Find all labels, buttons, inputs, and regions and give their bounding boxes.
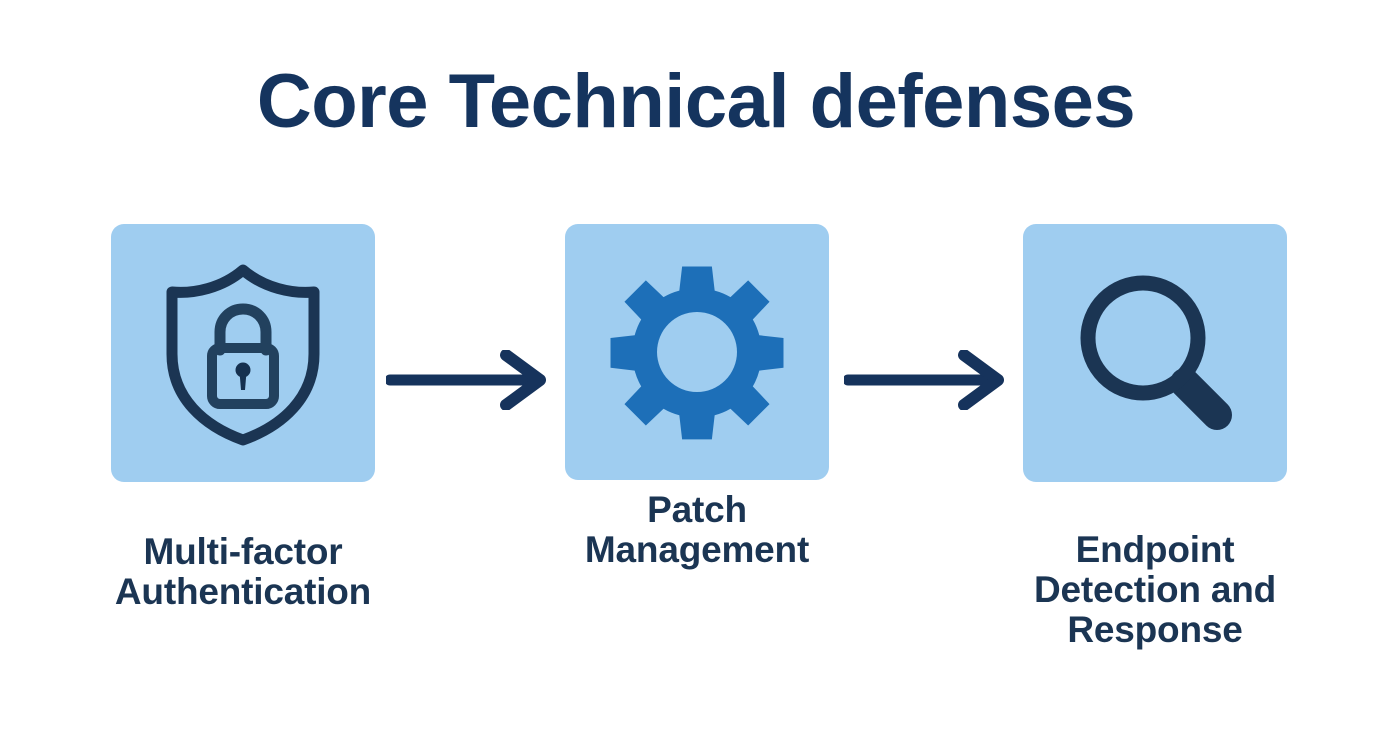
icon-card-2: [565, 224, 829, 480]
arrow-right-icon-2: [844, 350, 1012, 410]
step-label-3: Endpoint Detection and Response: [1023, 482, 1287, 650]
step-label-1: Multi-factor Authentication: [111, 482, 375, 612]
process-flow: Multi-factor Authentication: [0, 224, 1392, 684]
flow-step-multi-factor-authentication[interactable]: Multi-factor Authentication: [111, 224, 375, 612]
gear-icon: [604, 259, 790, 445]
icon-card-3: [1023, 224, 1287, 482]
page-title: Core Technical defenses: [0, 62, 1392, 142]
diagram-canvas: Core Technical defenses: [0, 0, 1392, 752]
flow-step-endpoint-detection-and-response[interactable]: Endpoint Detection and Response: [1023, 224, 1287, 650]
icon-card-1: [111, 224, 375, 482]
shield-lock-icon: [158, 258, 328, 448]
step-label-2-line-2: Management: [565, 530, 829, 570]
step-label-3-line-2: Detection and: [1023, 570, 1287, 610]
flow-step-patch-management[interactable]: Patch Management: [565, 224, 829, 570]
step-label-1-line-1: Multi-factor: [111, 532, 375, 572]
step-label-2: Patch Management: [565, 480, 829, 570]
step-label-1-line-2: Authentication: [111, 572, 375, 612]
magnifier-icon: [1065, 263, 1245, 443]
step-label-2-line-1: Patch: [565, 490, 829, 530]
arrow-right-icon-1: [386, 350, 554, 410]
step-label-3-line-1: Endpoint: [1023, 530, 1287, 570]
step-label-3-line-3: Response: [1023, 610, 1287, 650]
